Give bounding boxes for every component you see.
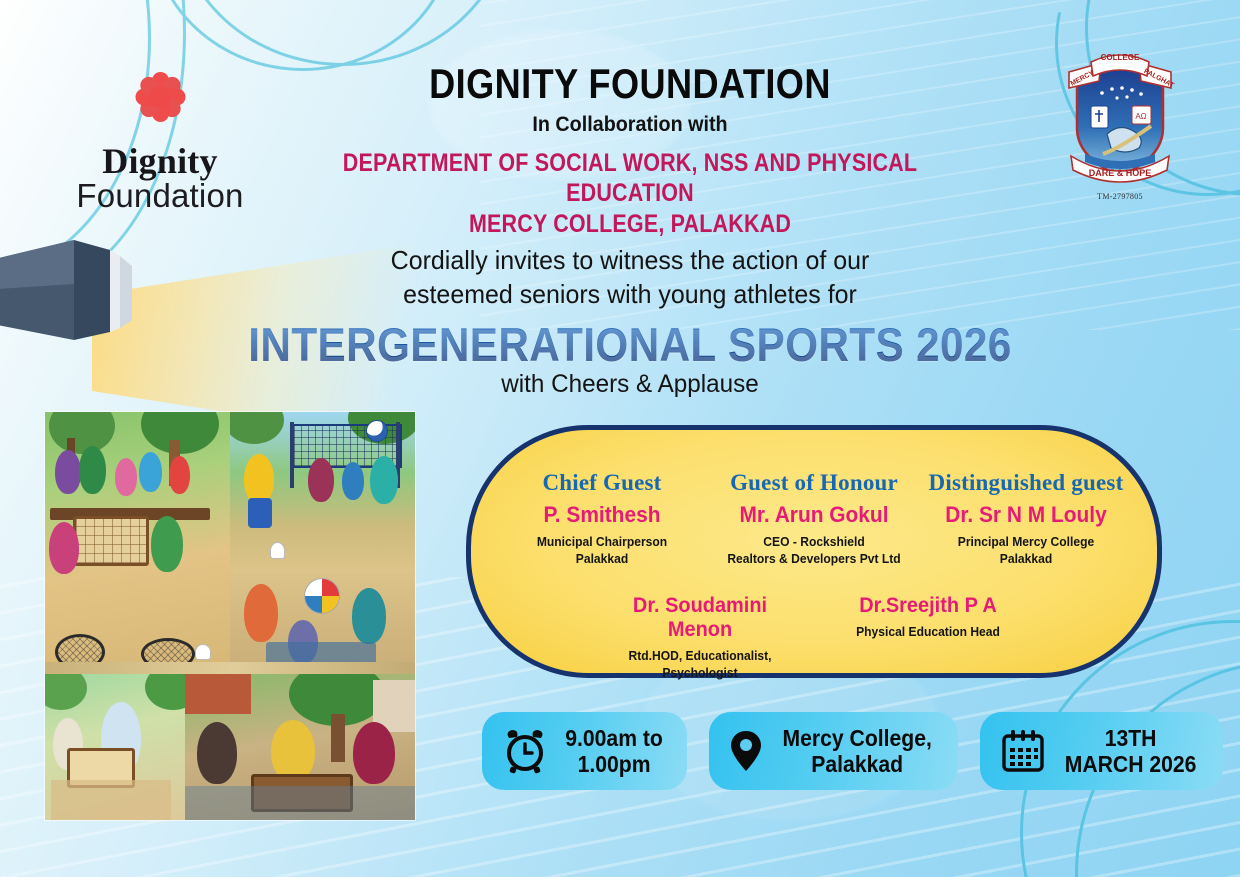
guest-distinguished: Distinguished guest Dr. Sr N M Louly Pri… <box>920 470 1132 567</box>
info-pill-text: 13TH MARCH 2026 <box>1065 725 1197 777</box>
location-pin-icon <box>729 728 763 774</box>
guest-detail-line-2: Palakkad <box>511 550 693 567</box>
info-line-1: 13TH <box>1065 725 1197 751</box>
logo-word-dignity: Dignity <box>70 143 250 179</box>
guest-detail-line-2: Psychologist <box>601 664 798 681</box>
crest-motto: DARE & HOPE <box>1089 168 1152 178</box>
mercy-college-crest: COLLEGE MERCY PALGHAT AΩ DARE & HOPE TM-… <box>1055 36 1185 211</box>
svg-text:AΩ: AΩ <box>1135 112 1146 121</box>
guest-of-honour: Guest of Honour Mr. Arun Gokul CEO - Roc… <box>708 470 920 567</box>
collaboration-label: In Collaboration with <box>273 113 987 137</box>
event-tagline: with Cheers & Applause <box>261 370 998 399</box>
collage-cell-beachball <box>230 572 415 662</box>
invitation-line-2: esteemed seniors with young athletes for <box>265 277 995 311</box>
guest-detail: CEO - Rockshield Realtors & Developers P… <box>723 533 905 567</box>
flower-icon <box>118 55 202 139</box>
guests-row-primary: Chief Guest P. Smithesh Municipal Chairp… <box>471 470 1157 567</box>
info-pill-date: 13TH MARCH 2026 <box>980 712 1222 790</box>
guest-role: Distinguished guest <box>928 470 1124 496</box>
collage-cell-carrom-indoor <box>45 674 185 820</box>
info-pill-venue: Mercy College, Palakkad <box>709 712 958 790</box>
guest-secondary-2: Dr.Sreejith P A Physical Education Head <box>814 588 1042 681</box>
guest-detail-line-2: Palakkad <box>935 550 1117 567</box>
guest-detail: Physical Education Head <box>829 623 1026 640</box>
guest-detail-line-1: Municipal Chairperson <box>511 533 693 550</box>
guest-name: Dr. Soudamini Menon <box>599 594 800 642</box>
invitation-text: Cordially invites to witness the action … <box>265 243 995 312</box>
guest-name: P. Smithesh <box>509 502 695 528</box>
info-line-2: 1.00pm <box>565 751 663 777</box>
guest-detail-line-1: Physical Education Head <box>829 623 1026 640</box>
info-line-1: 9.00am to <box>565 725 663 751</box>
guest-secondary-1: Dr. Soudamini Menon Rtd.HOD, Educational… <box>586 588 814 681</box>
guest-detail: Rtd.HOD, Educationalist, Psychologist <box>601 647 798 681</box>
calendar-icon <box>1000 728 1046 774</box>
guest-detail-line-1: Rtd.HOD, Educationalist, <box>601 647 798 664</box>
event-title: INTERGENERATIONAL SPORTS 2026 <box>243 317 1017 372</box>
guest-detail: Municipal Chairperson Palakkad <box>511 533 693 567</box>
info-line-2: Palakkad <box>783 751 932 777</box>
info-pill-text: Mercy College, Palakkad <box>783 725 932 777</box>
info-line-2: MARCH 2026 <box>1065 751 1197 777</box>
guest-chief: Chief Guest P. Smithesh Municipal Chairp… <box>496 470 708 567</box>
poster-title: DIGNITY FOUNDATION <box>303 62 957 107</box>
info-bar: 9.00am to 1.00pm Mercy College, Palakkad <box>482 712 1223 790</box>
guest-role: Chief Guest <box>504 470 700 496</box>
event-poster: Dignity Foundation COLLEGE MERCY PALGHAT <box>0 0 1240 877</box>
guest-name: Dr.Sreejith P A <box>827 594 1028 618</box>
collage-cell-volleyball <box>230 412 415 572</box>
crest-college-text: COLLEGE <box>1101 53 1140 62</box>
header-block: DIGNITY FOUNDATION In Collaboration with… <box>250 62 1010 239</box>
guests-row-secondary: Dr. Soudamini Menon Rtd.HOD, Educational… <box>471 588 1157 681</box>
invitation-line-1: Cordially invites to witness the action … <box>265 243 995 277</box>
guest-role: Guest of Honour <box>716 470 912 496</box>
guest-name: Dr. Sr N M Louly <box>933 502 1119 528</box>
guest-detail-line-2: Realtors & Developers Pvt Ltd <box>723 550 905 567</box>
dignity-foundation-logo: Dignity Foundation <box>70 55 250 214</box>
flashlight-icon <box>0 232 182 352</box>
alarm-clock-icon <box>502 728 548 774</box>
collage-divider <box>45 662 415 674</box>
department-line-1: DEPARTMENT OF SOCIAL WORK, NSS AND PHYSI… <box>343 149 917 208</box>
info-pill-time: 9.00am to 1.00pm <box>482 712 687 790</box>
department-line-2: MERCY COLLEGE, PALAKKAD <box>303 209 957 240</box>
info-pill-text: 9.00am to 1.00pm <box>565 725 663 777</box>
collage-cell-carrom-park <box>45 412 230 662</box>
collage-cell-village-game <box>185 674 415 820</box>
guests-panel: Chief Guest P. Smithesh Municipal Chairp… <box>466 425 1162 678</box>
info-line-1: Mercy College, <box>783 725 932 751</box>
guest-detail-line-1: CEO - Rockshield <box>723 533 905 550</box>
guest-name: Mr. Arun Gokul <box>721 502 907 528</box>
guest-detail: Principal Mercy College Palakkad <box>935 533 1117 567</box>
crest-trademark: TM-2797805 <box>1055 192 1185 201</box>
guest-detail-line-1: Principal Mercy College <box>935 533 1117 550</box>
activity-photo-collage <box>45 412 415 820</box>
department-line: DEPARTMENT OF SOCIAL WORK, NSS AND PHYSI… <box>303 148 957 240</box>
logo-word-foundation: Foundation <box>70 179 250 214</box>
